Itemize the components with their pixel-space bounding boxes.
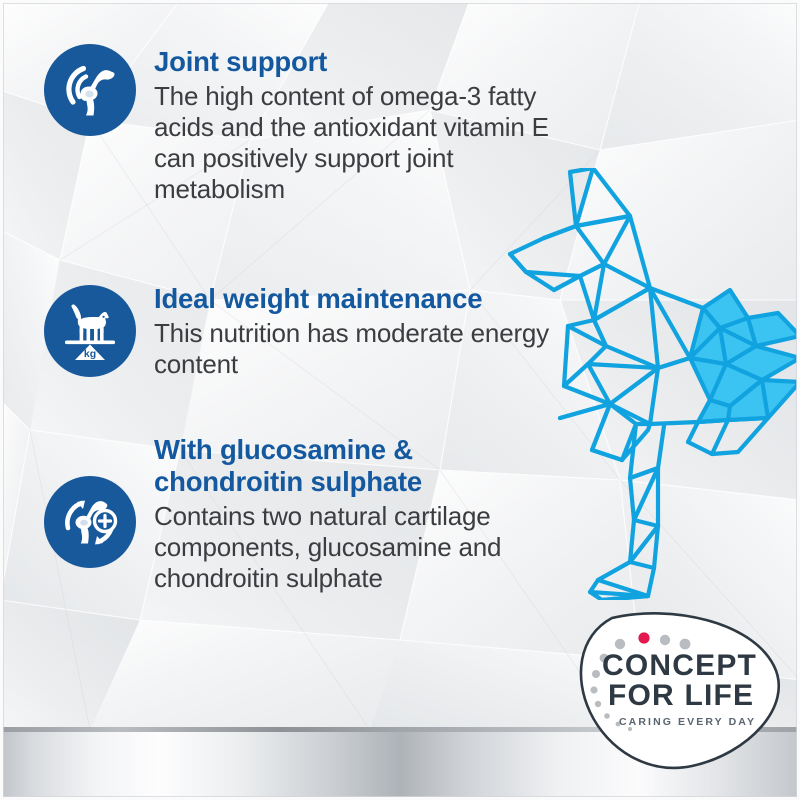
concept-for-life-logo: CONCEPT FOR LIFE CARING EVERY DAY bbox=[552, 608, 792, 780]
scale-unit-label: kg bbox=[84, 348, 96, 360]
logo-shape bbox=[552, 608, 792, 780]
feature-text-block: Joint support The high content of omega-… bbox=[154, 44, 554, 206]
feature-item-joint-support: Joint support The high content of omega-… bbox=[44, 44, 554, 206]
logo-accent-dot bbox=[638, 632, 649, 643]
feature-item-ideal-weight: kg Ideal weight maintenance This nutriti… bbox=[44, 281, 554, 380]
feature-item-glucosamine: With glucosamine & chondroitin sulphate … bbox=[44, 432, 554, 594]
feature-heading: Ideal weight maintenance bbox=[154, 283, 554, 315]
joint-support-icon bbox=[44, 44, 136, 136]
feature-body: Contains two natural cartilage component… bbox=[154, 501, 554, 595]
dog-on-scale-icon: kg bbox=[44, 285, 136, 377]
feature-heading: With glucosamine & chondroitin sulphate bbox=[154, 434, 554, 498]
feature-text-block: Ideal weight maintenance This nutrition … bbox=[154, 281, 554, 380]
feature-heading: Joint support bbox=[154, 46, 554, 78]
feature-text-block: With glucosamine & chondroitin sulphate … bbox=[154, 432, 554, 594]
product-info-panel: Joint support The high content of omega-… bbox=[0, 0, 800, 800]
joint-rotation-plus-icon bbox=[44, 476, 136, 568]
feature-body: The high content of omega-3 fatty acids … bbox=[154, 81, 554, 206]
feature-body: This nutrition has moderate energy conte… bbox=[154, 318, 554, 380]
